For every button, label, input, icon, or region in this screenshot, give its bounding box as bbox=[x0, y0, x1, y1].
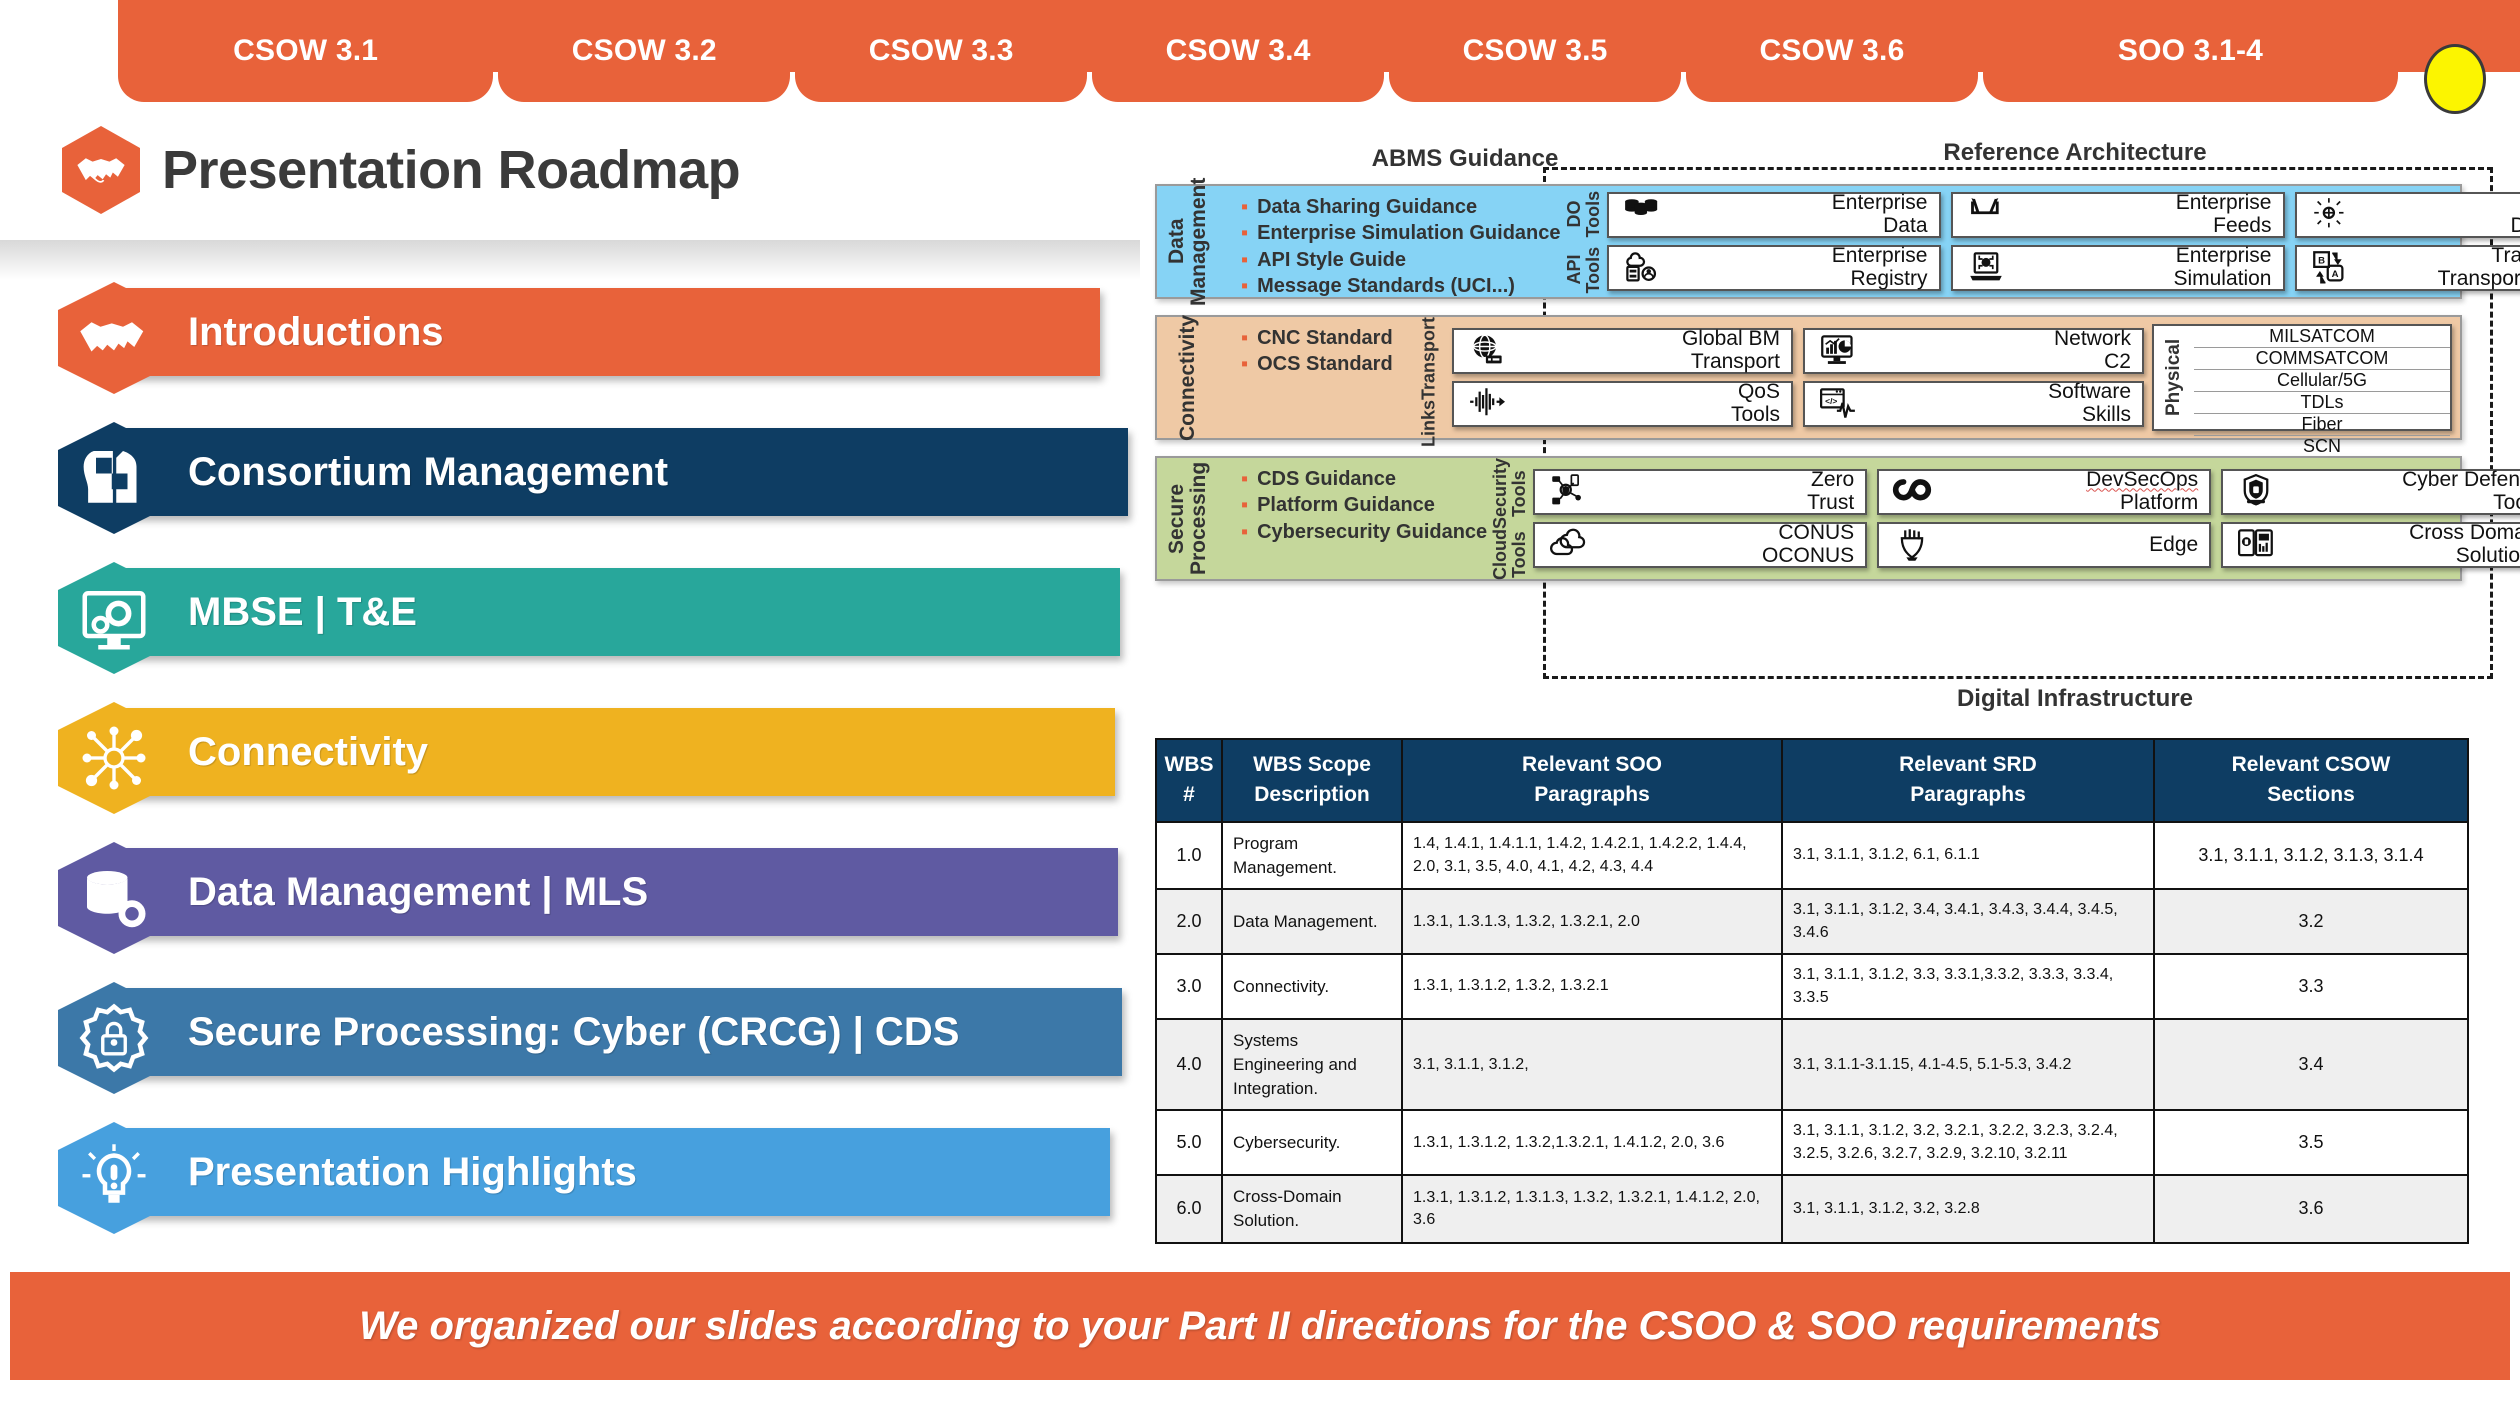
roadmap-item-introductions[interactable]: Introductions bbox=[0, 282, 1130, 394]
devsecops-infinity-icon bbox=[1886, 474, 1938, 510]
cell-wbs-number: 4.0 bbox=[1156, 1019, 1222, 1110]
band-title: Connectivity bbox=[1157, 317, 1219, 438]
tab-csow-3-1[interactable]: CSOW 3.1 bbox=[118, 0, 493, 102]
cell-wbs-number: 3.0 bbox=[1156, 954, 1222, 1019]
tile-label-line2: Data bbox=[1668, 215, 1928, 238]
guidance-item: CNC Standard bbox=[1241, 325, 1406, 351]
tile-qos-tools[interactable]: QoSTools bbox=[1452, 381, 1793, 427]
table-row: 5.0Cybersecurity.1.3.1, 1.3.1.2, 1.3.2,1… bbox=[1156, 1110, 2468, 1175]
edge-icon bbox=[1886, 527, 1938, 563]
tab-soo-3-1-4[interactable]: SOO 3.1-4 bbox=[1983, 0, 2398, 102]
table-body: 1.0Program Management.1.4, 1.4.1, 1.4.1.… bbox=[1156, 822, 2468, 1243]
tile-label: EnterpriseRegistry bbox=[1668, 245, 1932, 290]
tab-csow-3-4[interactable]: CSOW 3.4 bbox=[1092, 0, 1384, 102]
physical-list: MILSATCOMCOMMSATCOMCellular/5GTDLsFiberS… bbox=[2194, 326, 2450, 429]
header-line1: WBS # bbox=[1165, 753, 1214, 806]
tile-label-line1: Edge bbox=[1938, 534, 2198, 557]
tile-label-line1: Translators & bbox=[2356, 245, 2520, 268]
tab-label: CSOW 3.2 bbox=[572, 34, 717, 68]
tile-grid: Global BMTransportNetworkC2QoSTools</>So… bbox=[1452, 317, 2152, 438]
cell-soo-paragraphs: 1.3.1, 1.3.1.2, 1.3.1.3, 1.3.2, 1.3.2.1,… bbox=[1402, 1175, 1782, 1243]
cell-csow-sections: 3.4 bbox=[2154, 1019, 2468, 1110]
physical-list-item: Fiber bbox=[2194, 413, 2450, 435]
physical-list-item: COMMSATCOM bbox=[2194, 347, 2450, 369]
tile-label: EnterpriseFeeds bbox=[2012, 192, 2276, 237]
tab-label: CSOW 3.4 bbox=[1166, 34, 1311, 68]
svg-text:</>: </> bbox=[1825, 396, 1837, 406]
roadmap-item-bar: Presentation Highlights bbox=[110, 1128, 1110, 1216]
tile-row: EnterpriseRegistryEnterpriseSimulationBA… bbox=[1607, 245, 2520, 291]
edge-icon bbox=[1891, 527, 1933, 563]
roadmap-item-bar: Secure Processing: Cyber (CRCG) | CDS bbox=[110, 988, 1122, 1076]
tile-global-bm-transport[interactable]: Global BMTransport bbox=[1452, 328, 1793, 374]
tile-label-line2: OCONUS bbox=[1594, 545, 1854, 568]
guidance-item: Platform Guidance bbox=[1241, 492, 1487, 518]
clouds-icon bbox=[1542, 527, 1594, 563]
cell-csow-sections: 3.3 bbox=[2154, 954, 2468, 1019]
roadmap-item-secure-processing-cyber-crcg-cds[interactable]: Secure Processing: Cyber (CRCG) | CDS bbox=[0, 982, 1130, 1094]
tile-label-line1: Content bbox=[2356, 192, 2520, 215]
digital-infrastructure-label: Digital Infrastructure bbox=[1675, 685, 2475, 713]
band-title: Secure Processing bbox=[1157, 458, 1219, 579]
tile-label: Translators &Transport Adaptors bbox=[2356, 245, 2520, 290]
tool-label-column: TransportLinks bbox=[1406, 317, 1452, 438]
tile-label-line2: Transport bbox=[1513, 351, 1780, 374]
roadmap-item-label: Connectivity bbox=[188, 730, 428, 775]
band-secure-processing: Secure ProcessingCDS GuidancePlatform Gu… bbox=[1155, 456, 2462, 581]
roadmap-item-label: Secure Processing: Cyber (CRCG) | CDS bbox=[188, 1010, 959, 1055]
roadmap-list: IntroductionsConsortium ManagementMBSE |… bbox=[0, 282, 1130, 1262]
tool-label: Links bbox=[1406, 400, 1452, 447]
physical-label: Physical bbox=[2154, 326, 2194, 429]
globe-server-icon bbox=[1466, 333, 1508, 369]
wbs-mapping-table: WBS #WBS ScopeDescriptionRelevant SOOPar… bbox=[1155, 738, 2469, 1244]
tile-label: QoSTools bbox=[1513, 381, 1784, 426]
tile-network-c2[interactable]: NetworkC2 bbox=[1803, 328, 2144, 374]
cell-csow-sections: 3.1, 3.1.1, 3.1.2, 3.1.3, 3.1.4 bbox=[2154, 822, 2468, 890]
cell-wbs-number: 5.0 bbox=[1156, 1110, 1222, 1175]
tile-label: Edge bbox=[1938, 534, 2202, 557]
roadmap-item-presentation-highlights[interactable]: Presentation Highlights bbox=[0, 1122, 1130, 1234]
tile-label-line2: Skills bbox=[1864, 404, 2131, 427]
tool-label: Cloud Tools bbox=[1487, 529, 1533, 580]
table-header-wbs-scope: WBS ScopeDescription bbox=[1222, 739, 1402, 822]
tab-csow-3-6[interactable]: CSOW 3.6 bbox=[1686, 0, 1978, 102]
tile-cross-domain-solutions[interactable]: Cross DomainSolutions bbox=[2221, 522, 2520, 568]
cell-soo-paragraphs: 1.4, 1.4.1, 1.4.1.1, 1.4.2, 1.4.2.1, 1.4… bbox=[1402, 822, 1782, 890]
guidance-item: CDS Guidance bbox=[1241, 466, 1487, 492]
roadmap-item-data-management-mls[interactable]: Data Management | MLS bbox=[0, 842, 1130, 954]
guidance-item: Data Sharing Guidance bbox=[1241, 194, 1561, 220]
tool-label: Security Tools bbox=[1487, 458, 1533, 529]
tile-devsecops-platform[interactable]: DevSecOpsPlatform bbox=[1877, 469, 2211, 515]
guidance-item: Enterprise Simulation Guidance bbox=[1241, 220, 1561, 246]
puzzle-heads-icon bbox=[78, 442, 150, 514]
cell-wbs-number: 6.0 bbox=[1156, 1175, 1222, 1243]
clouds-icon bbox=[1547, 527, 1589, 563]
band-title: Data Management bbox=[1157, 186, 1219, 297]
table-row: 2.0Data Management.1.3.1, 1.3.1.3, 1.3.2… bbox=[1156, 889, 2468, 954]
code-window-icon: </> bbox=[1817, 386, 1859, 422]
table-header-row: WBS #WBS ScopeDescriptionRelevant SOOPar… bbox=[1156, 739, 2468, 822]
tile-cyber-defense-tools[interactable]: Cyber DefenseTools bbox=[2221, 469, 2520, 515]
bottom-banner: We organized our slides according to you… bbox=[10, 1272, 2510, 1380]
cell-srd-paragraphs: 3.1, 3.1.1, 3.1.2, 6.1, 6.1.1 bbox=[1782, 822, 2154, 890]
cell-wbs-number: 1.0 bbox=[1156, 822, 1222, 890]
roadmap-item-label: Consortium Management bbox=[188, 450, 668, 495]
lightbulb-alert-icon bbox=[78, 1142, 150, 1214]
cell-csow-sections: 3.5 bbox=[2154, 1110, 2468, 1175]
tile-label-line2: Solutions bbox=[2282, 545, 2520, 568]
roadmap-item-bar: Introductions bbox=[110, 288, 1100, 376]
roadmap-item-consortium-management[interactable]: Consortium Management bbox=[0, 422, 1130, 534]
cell-srd-paragraphs: 3.1, 3.1.1, 3.1.2, 3.4, 3.4.1, 3.4.3, 3.… bbox=[1782, 889, 2154, 954]
tab-label: SOO 3.1-4 bbox=[2118, 34, 2263, 68]
tile-label-line1: Enterprise bbox=[1668, 192, 1928, 215]
tile-enterprise-registry[interactable]: EnterpriseRegistry bbox=[1607, 245, 1941, 291]
roadmap-item-label: Introductions bbox=[188, 310, 444, 355]
physical-list-item: MILSATCOM bbox=[2194, 326, 2450, 347]
waveform-arrow-icon bbox=[1466, 386, 1508, 422]
zero-trust-icon bbox=[1547, 474, 1589, 510]
network-monitor-icon bbox=[1817, 333, 1859, 369]
cell-srd-paragraphs: 3.1, 3.1.1-3.1.15, 4.1-4.5, 5.1-5.3, 3.4… bbox=[1782, 1019, 2154, 1110]
tile-label: Cross DomainSolutions bbox=[2282, 522, 2520, 567]
tile-label: NetworkC2 bbox=[1864, 328, 2135, 373]
cell-scope-description: Connectivity. bbox=[1222, 954, 1402, 1019]
tool-label-column: Security ToolsCloud Tools bbox=[1487, 458, 1533, 579]
cell-scope-description: Program Management. bbox=[1222, 822, 1402, 890]
table-row: 1.0Program Management.1.4, 1.4.1, 1.4.1.… bbox=[1156, 822, 2468, 890]
tile-enterprise-feeds[interactable]: EnterpriseFeeds bbox=[1951, 192, 2285, 238]
cell-scope-description: Systems Engineering and Integration. bbox=[1222, 1019, 1402, 1110]
cell-csow-sections: 3.6 bbox=[2154, 1175, 2468, 1243]
tile-label-line1: Software bbox=[1864, 381, 2131, 404]
tile-enterprise-simulation[interactable]: EnterpriseSimulation bbox=[1951, 245, 2285, 291]
roadmap-item-bar: Connectivity bbox=[110, 708, 1115, 796]
code-window-icon: </> bbox=[1812, 386, 1864, 422]
table-row: 4.0Systems Engineering and Integration.3… bbox=[1156, 1019, 2468, 1110]
band-data-management: Data ManagementData Sharing GuidanceEnte… bbox=[1155, 184, 2462, 299]
cell-soo-paragraphs: 1.3.1, 1.3.1.2, 1.3.2, 1.3.2.1 bbox=[1402, 954, 1782, 1019]
band-guidance-list: CDS GuidancePlatform GuidanceCybersecuri… bbox=[1219, 458, 1487, 579]
band-guidance-list: Data Sharing GuidanceEnterprise Simulati… bbox=[1219, 186, 1561, 297]
feeds-arrows-icon bbox=[1960, 197, 2012, 233]
laptop-simulation-icon bbox=[1960, 250, 2012, 286]
tile-label-line1: CONUS bbox=[1594, 522, 1854, 545]
header-line1: Relevant SOO bbox=[1522, 753, 1662, 776]
cell-csow-sections: 3.2 bbox=[2154, 889, 2468, 954]
tile-enterprise-data[interactable]: EnterpriseData bbox=[1607, 192, 1941, 238]
content-distribution-icon bbox=[2309, 197, 2351, 233]
tile-content-distribution[interactable]: ContentDistribution bbox=[2295, 192, 2520, 238]
table-row: 3.0Connectivity.1.3.1, 1.3.1.2, 1.3.2, 1… bbox=[1156, 954, 2468, 1019]
translator-icon: BA bbox=[2304, 250, 2356, 286]
physical-list-item: Cellular/5G bbox=[2194, 369, 2450, 391]
cloud-registry-icon bbox=[1621, 250, 1663, 286]
tile-row: CONUSOCONUSEdgeCross DomainSolutions bbox=[1533, 522, 2520, 568]
roadmap-item-bar: Consortium Management bbox=[110, 428, 1128, 516]
tile-label: DevSecOpsPlatform bbox=[1938, 469, 2202, 514]
handshake-icon bbox=[62, 126, 140, 214]
title-divider bbox=[0, 240, 1140, 280]
tile-label-line1: QoS bbox=[1513, 381, 1780, 404]
tile-row: ZeroTrustDevSecOpsPlatformCyber DefenseT… bbox=[1533, 469, 2520, 515]
header-line1: WBS Scope bbox=[1253, 753, 1371, 776]
physical-list-item: TDLs bbox=[2194, 391, 2450, 413]
content-distribution-icon bbox=[2304, 197, 2356, 233]
roadmap-item-label: MBSE | T&E bbox=[188, 590, 417, 635]
tab-csow-3-5[interactable]: CSOW 3.5 bbox=[1389, 0, 1681, 102]
tile-grid: ZeroTrustDevSecOpsPlatformCyber DefenseT… bbox=[1533, 458, 2520, 579]
header-line2: Paragraphs bbox=[1910, 783, 2026, 806]
monitor-gears-icon bbox=[78, 582, 150, 654]
cell-scope-description: Cross-Domain Solution. bbox=[1222, 1175, 1402, 1243]
laptop-simulation-icon bbox=[1965, 250, 2007, 286]
network-monitor-icon bbox=[1812, 333, 1864, 369]
databases-icon bbox=[1616, 197, 1668, 233]
tile-label-line1: Cross Domain bbox=[2282, 522, 2520, 545]
tile-conus-oconus[interactable]: CONUSOCONUS bbox=[1533, 522, 1867, 568]
tile-label-line2: Transport Adaptors bbox=[2356, 268, 2520, 291]
roadmap-item-mbse-t-e[interactable]: MBSE | T&E bbox=[0, 562, 1130, 674]
tile-label: ZeroTrust bbox=[1594, 469, 1858, 514]
guidance-item: OCS Standard bbox=[1241, 351, 1406, 377]
tile-label: EnterpriseSimulation bbox=[2012, 245, 2276, 290]
cell-scope-description: Data Management. bbox=[1222, 889, 1402, 954]
tile-label-line2: Distribution bbox=[2356, 215, 2520, 238]
feeds-arrows-icon bbox=[1965, 197, 2007, 233]
cross-domain-icon bbox=[2235, 527, 2277, 563]
tool-label: API Tools bbox=[1561, 242, 1607, 298]
cell-srd-paragraphs: 3.1, 3.1.1, 3.1.2, 3.2, 3.2.1, 3.2.2, 3.… bbox=[1782, 1110, 2154, 1175]
translator-icon: BA bbox=[2309, 250, 2351, 286]
top-bar-notch bbox=[0, 0, 118, 72]
tile-label: Global BMTransport bbox=[1513, 328, 1784, 373]
header-line1: Relevant CSOW bbox=[2232, 753, 2391, 776]
header-line2: Description bbox=[1254, 783, 1370, 806]
tile-label-line2: C2 bbox=[1864, 351, 2131, 374]
tile-label-line2: Simulation bbox=[2012, 268, 2272, 291]
waveform-arrow-icon bbox=[1461, 386, 1513, 422]
tab-label: CSOW 3.3 bbox=[869, 34, 1014, 68]
database-gear-icon bbox=[78, 862, 150, 934]
table-header-relevant-srd: Relevant SRDParagraphs bbox=[1782, 739, 2154, 822]
tile-translators-transport-adaptors[interactable]: BATranslators &Transport Adaptors bbox=[2295, 245, 2520, 291]
tile-label-line2: Tools bbox=[1513, 404, 1780, 427]
gear-lock-icon bbox=[78, 1002, 150, 1074]
cell-soo-paragraphs: 1.3.1, 1.3.1.3, 1.3.2, 1.3.2.1, 2.0 bbox=[1402, 889, 1782, 954]
tile-label-line1: DevSecOps bbox=[1938, 469, 2198, 492]
tile-label-line1: Cyber Defense bbox=[2282, 469, 2520, 492]
tile-row: Global BMTransportNetworkC2 bbox=[1452, 328, 2144, 374]
tool-label: DO Tools bbox=[1561, 186, 1607, 242]
tab-label: CSOW 3.6 bbox=[1759, 34, 1904, 68]
roadmap-item-label: Presentation Highlights bbox=[188, 1150, 637, 1195]
tab-csow-3-3[interactable]: CSOW 3.3 bbox=[795, 0, 1087, 102]
svg-text:B: B bbox=[2318, 256, 2325, 267]
csow-tab-row[interactable]: CSOW 3.1CSOW 3.2CSOW 3.3CSOW 3.4CSOW 3.5… bbox=[118, 0, 2398, 102]
page-title-group: Presentation Roadmap bbox=[62, 126, 740, 214]
architecture-diagram: ABMS Guidance Reference Architecture Dat… bbox=[1155, 145, 2495, 715]
tile-label-line1: Enterprise bbox=[2012, 192, 2272, 215]
tile-label: ContentDistribution bbox=[2356, 192, 2520, 237]
cell-srd-paragraphs: 3.1, 3.1.1, 3.1.2, 3.2, 3.2.8 bbox=[1782, 1175, 2154, 1243]
band-guidance-list: CNC StandardOCS Standard bbox=[1219, 317, 1406, 438]
globe-server-icon bbox=[1461, 333, 1513, 369]
roadmap-item-bar: MBSE | T&E bbox=[110, 568, 1120, 656]
tile-label-line1: Global BM bbox=[1513, 328, 1780, 351]
tab-label: CSOW 3.5 bbox=[1463, 34, 1608, 68]
svg-text:A: A bbox=[2331, 269, 2338, 280]
cell-srd-paragraphs: 3.1, 3.1.1, 3.1.2, 3.3, 3.3.1,3.3.2, 3.3… bbox=[1782, 954, 2154, 1019]
network-nodes-icon bbox=[78, 722, 150, 794]
tile-label-line2: Trust bbox=[1594, 492, 1854, 515]
roadmap-item-bar: Data Management | MLS bbox=[110, 848, 1118, 936]
reference-architecture-label: Reference Architecture bbox=[1675, 139, 2475, 167]
cloud-registry-icon bbox=[1616, 250, 1668, 286]
cell-soo-paragraphs: 1.3.1, 1.3.1.2, 1.3.2,1.3.2.1, 1.4.1.2, … bbox=[1402, 1110, 1782, 1175]
guidance-item: API Style Guide bbox=[1241, 247, 1561, 273]
tile-software-skills[interactable]: </>SoftwareSkills bbox=[1803, 381, 2144, 427]
tab-label: CSOW 3.1 bbox=[233, 34, 378, 68]
slide-root: CSOW 3.1CSOW 3.2CSOW 3.3CSOW 3.4CSOW 3.5… bbox=[0, 0, 2520, 1412]
tile-label-line1: Zero bbox=[1594, 469, 1854, 492]
tile-label: SoftwareSkills bbox=[1864, 381, 2135, 426]
zero-trust-icon bbox=[1542, 474, 1594, 510]
cross-domain-icon bbox=[2230, 527, 2282, 563]
table-header-relevant-csow: Relevant CSOWSections bbox=[2154, 739, 2468, 822]
status-dot bbox=[2424, 44, 2486, 114]
physical-list-item: SCN bbox=[2194, 435, 2450, 457]
devsecops-infinity-icon bbox=[1891, 474, 1933, 510]
tile-label-line2: Registry bbox=[1668, 268, 1928, 291]
tile-grid: EnterpriseDataEnterpriseFeedsContentDist… bbox=[1607, 186, 2520, 297]
band-connectivity: ConnectivityCNC StandardOCS StandardTran… bbox=[1155, 315, 2462, 440]
tile-label-line1: Enterprise bbox=[1668, 245, 1928, 268]
tile-row: EnterpriseDataEnterpriseFeedsContentDist… bbox=[1607, 192, 2520, 238]
tile-label-line1: Enterprise bbox=[2012, 245, 2272, 268]
tab-csow-3-2[interactable]: CSOW 3.2 bbox=[498, 0, 790, 102]
tile-zero-trust[interactable]: ZeroTrust bbox=[1533, 469, 1867, 515]
cell-soo-paragraphs: 3.1, 3.1.1, 3.1.2, bbox=[1402, 1019, 1782, 1110]
page-title: Presentation Roadmap bbox=[162, 139, 740, 201]
bottom-banner-text: We organized our slides according to you… bbox=[359, 1304, 2161, 1349]
guidance-item: Cybersecurity Guidance bbox=[1241, 519, 1487, 545]
tool-label-column: DO ToolsAPI Tools bbox=[1561, 186, 1607, 297]
tile-label: EnterpriseData bbox=[1668, 192, 1932, 237]
tile-label-line2: Feeds bbox=[2012, 215, 2272, 238]
tile-row: QoSTools</>SoftwareSkills bbox=[1452, 381, 2144, 427]
handshake-icon bbox=[78, 302, 150, 374]
cell-scope-description: Cybersecurity. bbox=[1222, 1110, 1402, 1175]
header-line2: Sections bbox=[2267, 783, 2355, 806]
shield-defense-icon bbox=[2230, 474, 2282, 510]
tool-label: Transport bbox=[1406, 317, 1452, 400]
cell-wbs-number: 2.0 bbox=[1156, 889, 1222, 954]
header-line2: Paragraphs bbox=[1534, 783, 1650, 806]
tile-label-line2: Tools bbox=[2282, 492, 2520, 515]
tile-label-line2: Platform bbox=[1938, 492, 2198, 515]
table-header-wbs-: WBS # bbox=[1156, 739, 1222, 822]
header-line1: Relevant SRD bbox=[1899, 753, 2037, 776]
tile-label: CONUSOCONUS bbox=[1594, 522, 1858, 567]
guidance-item: Message Standards (UCI...) bbox=[1241, 273, 1561, 299]
databases-icon bbox=[1621, 197, 1663, 233]
tile-label-line1: Network bbox=[1864, 328, 2131, 351]
roadmap-item-label: Data Management | MLS bbox=[188, 870, 648, 915]
roadmap-item-connectivity[interactable]: Connectivity bbox=[0, 702, 1130, 814]
table-header-relevant-soo: Relevant SOOParagraphs bbox=[1402, 739, 1782, 822]
tile-edge[interactable]: Edge bbox=[1877, 522, 2211, 568]
tile-label: Cyber DefenseTools bbox=[2282, 469, 2520, 514]
physical-layer-group: PhysicalMILSATCOMCOMMSATCOMCellular/5GTD… bbox=[2152, 324, 2452, 431]
table-row: 6.0Cross-Domain Solution.1.3.1, 1.3.1.2,… bbox=[1156, 1175, 2468, 1243]
shield-defense-icon bbox=[2235, 474, 2277, 510]
